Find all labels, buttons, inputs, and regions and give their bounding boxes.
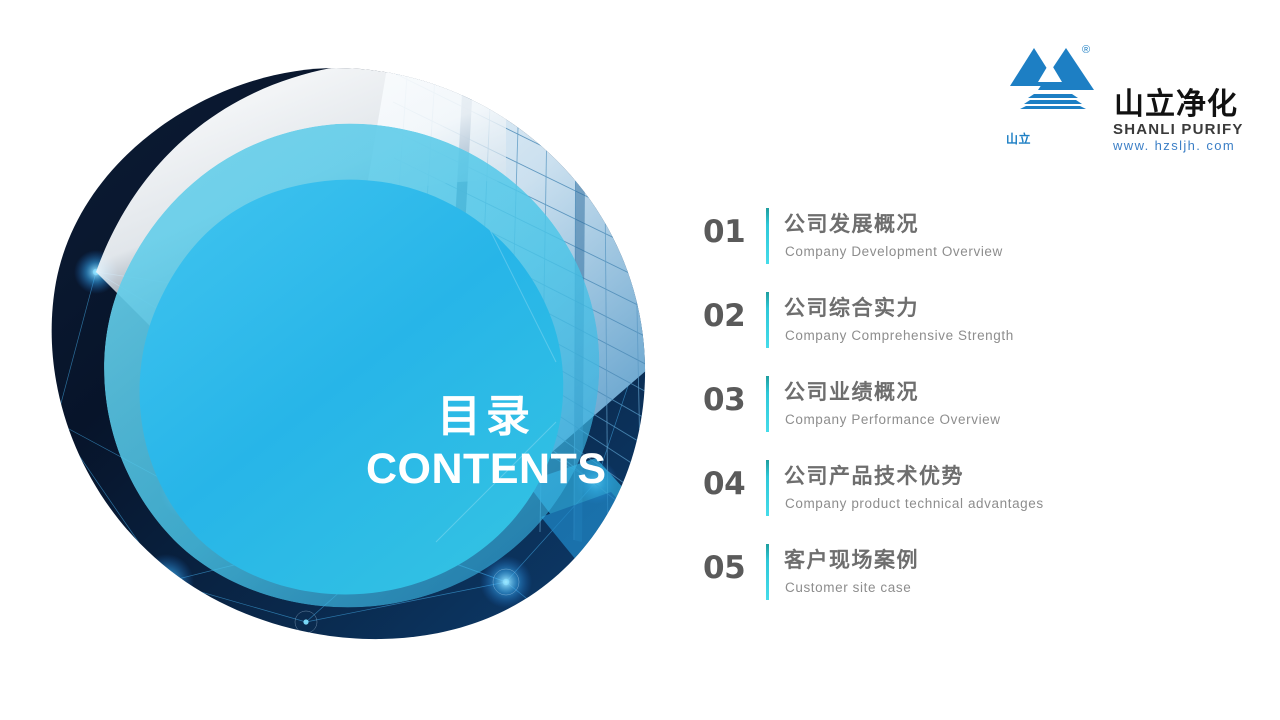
toc-item-02[interactable]: 02 公司综合实力 Company Comprehensive Strength: [700, 280, 1240, 364]
toc-title-cn: 公司发展概况: [784, 208, 919, 238]
toc-title-cn: 公司产品技术优势: [784, 460, 964, 490]
company-logo: ® 山立 山立净化 SHANLI PURIFY www. hzsljh. com: [1004, 42, 1236, 120]
logo-company-name-cn: 山立净化: [1114, 88, 1240, 122]
cyan-core-shape: [140, 180, 564, 595]
toc-title-en: Customer site case: [785, 580, 911, 595]
hero-blob-graphic: 目录 CONTENTS: [36, 62, 656, 642]
toc-title-en: Company Development Overview: [785, 244, 1003, 259]
logo-sub-mark: 山立: [1006, 130, 1031, 147]
toc-number: 02: [703, 298, 755, 334]
toc-number: 03: [703, 382, 755, 418]
toc-item-01[interactable]: 01 公司发展概况 Company Development Overview: [700, 196, 1240, 280]
toc-title-en: Company Performance Overview: [785, 412, 1001, 427]
logo-website-url: www. hzsljh. com: [1113, 138, 1235, 153]
toc-title-cn: 公司综合实力: [784, 292, 919, 322]
registered-trademark-icon: ®: [1082, 44, 1090, 56]
toc-number: 05: [703, 550, 755, 586]
toc-divider-line: [766, 460, 769, 516]
toc-number: 01: [703, 214, 755, 250]
toc-title-cn: 公司业绩概况: [784, 376, 919, 406]
hero-blob-svg: [36, 62, 656, 642]
toc-item-03[interactable]: 03 公司业绩概况 Company Performance Overview: [700, 364, 1240, 448]
toc-divider-line: [766, 544, 769, 600]
toc-divider-line: [766, 376, 769, 432]
toc-item-05[interactable]: 05 客户现场案例 Customer site case: [700, 532, 1240, 616]
table-of-contents: 01 公司发展概况 Company Development Overview 0…: [700, 196, 1240, 616]
toc-number: 04: [703, 466, 755, 502]
toc-title-en: Company product technical advantages: [785, 496, 1044, 511]
presentation-slide: ® 山立 山立净化 SHANLI PURIFY www. hzsljh. com: [0, 0, 1280, 720]
toc-divider-line: [766, 208, 769, 264]
toc-divider-line: [766, 292, 769, 348]
toc-item-04[interactable]: 04 公司产品技术优势 Company product technical ad…: [700, 448, 1240, 532]
logo-company-name-en: SHANLI PURIFY: [1113, 121, 1244, 138]
toc-title-en: Company Comprehensive Strength: [785, 328, 1014, 343]
toc-title-cn: 客户现场案例: [784, 544, 919, 574]
